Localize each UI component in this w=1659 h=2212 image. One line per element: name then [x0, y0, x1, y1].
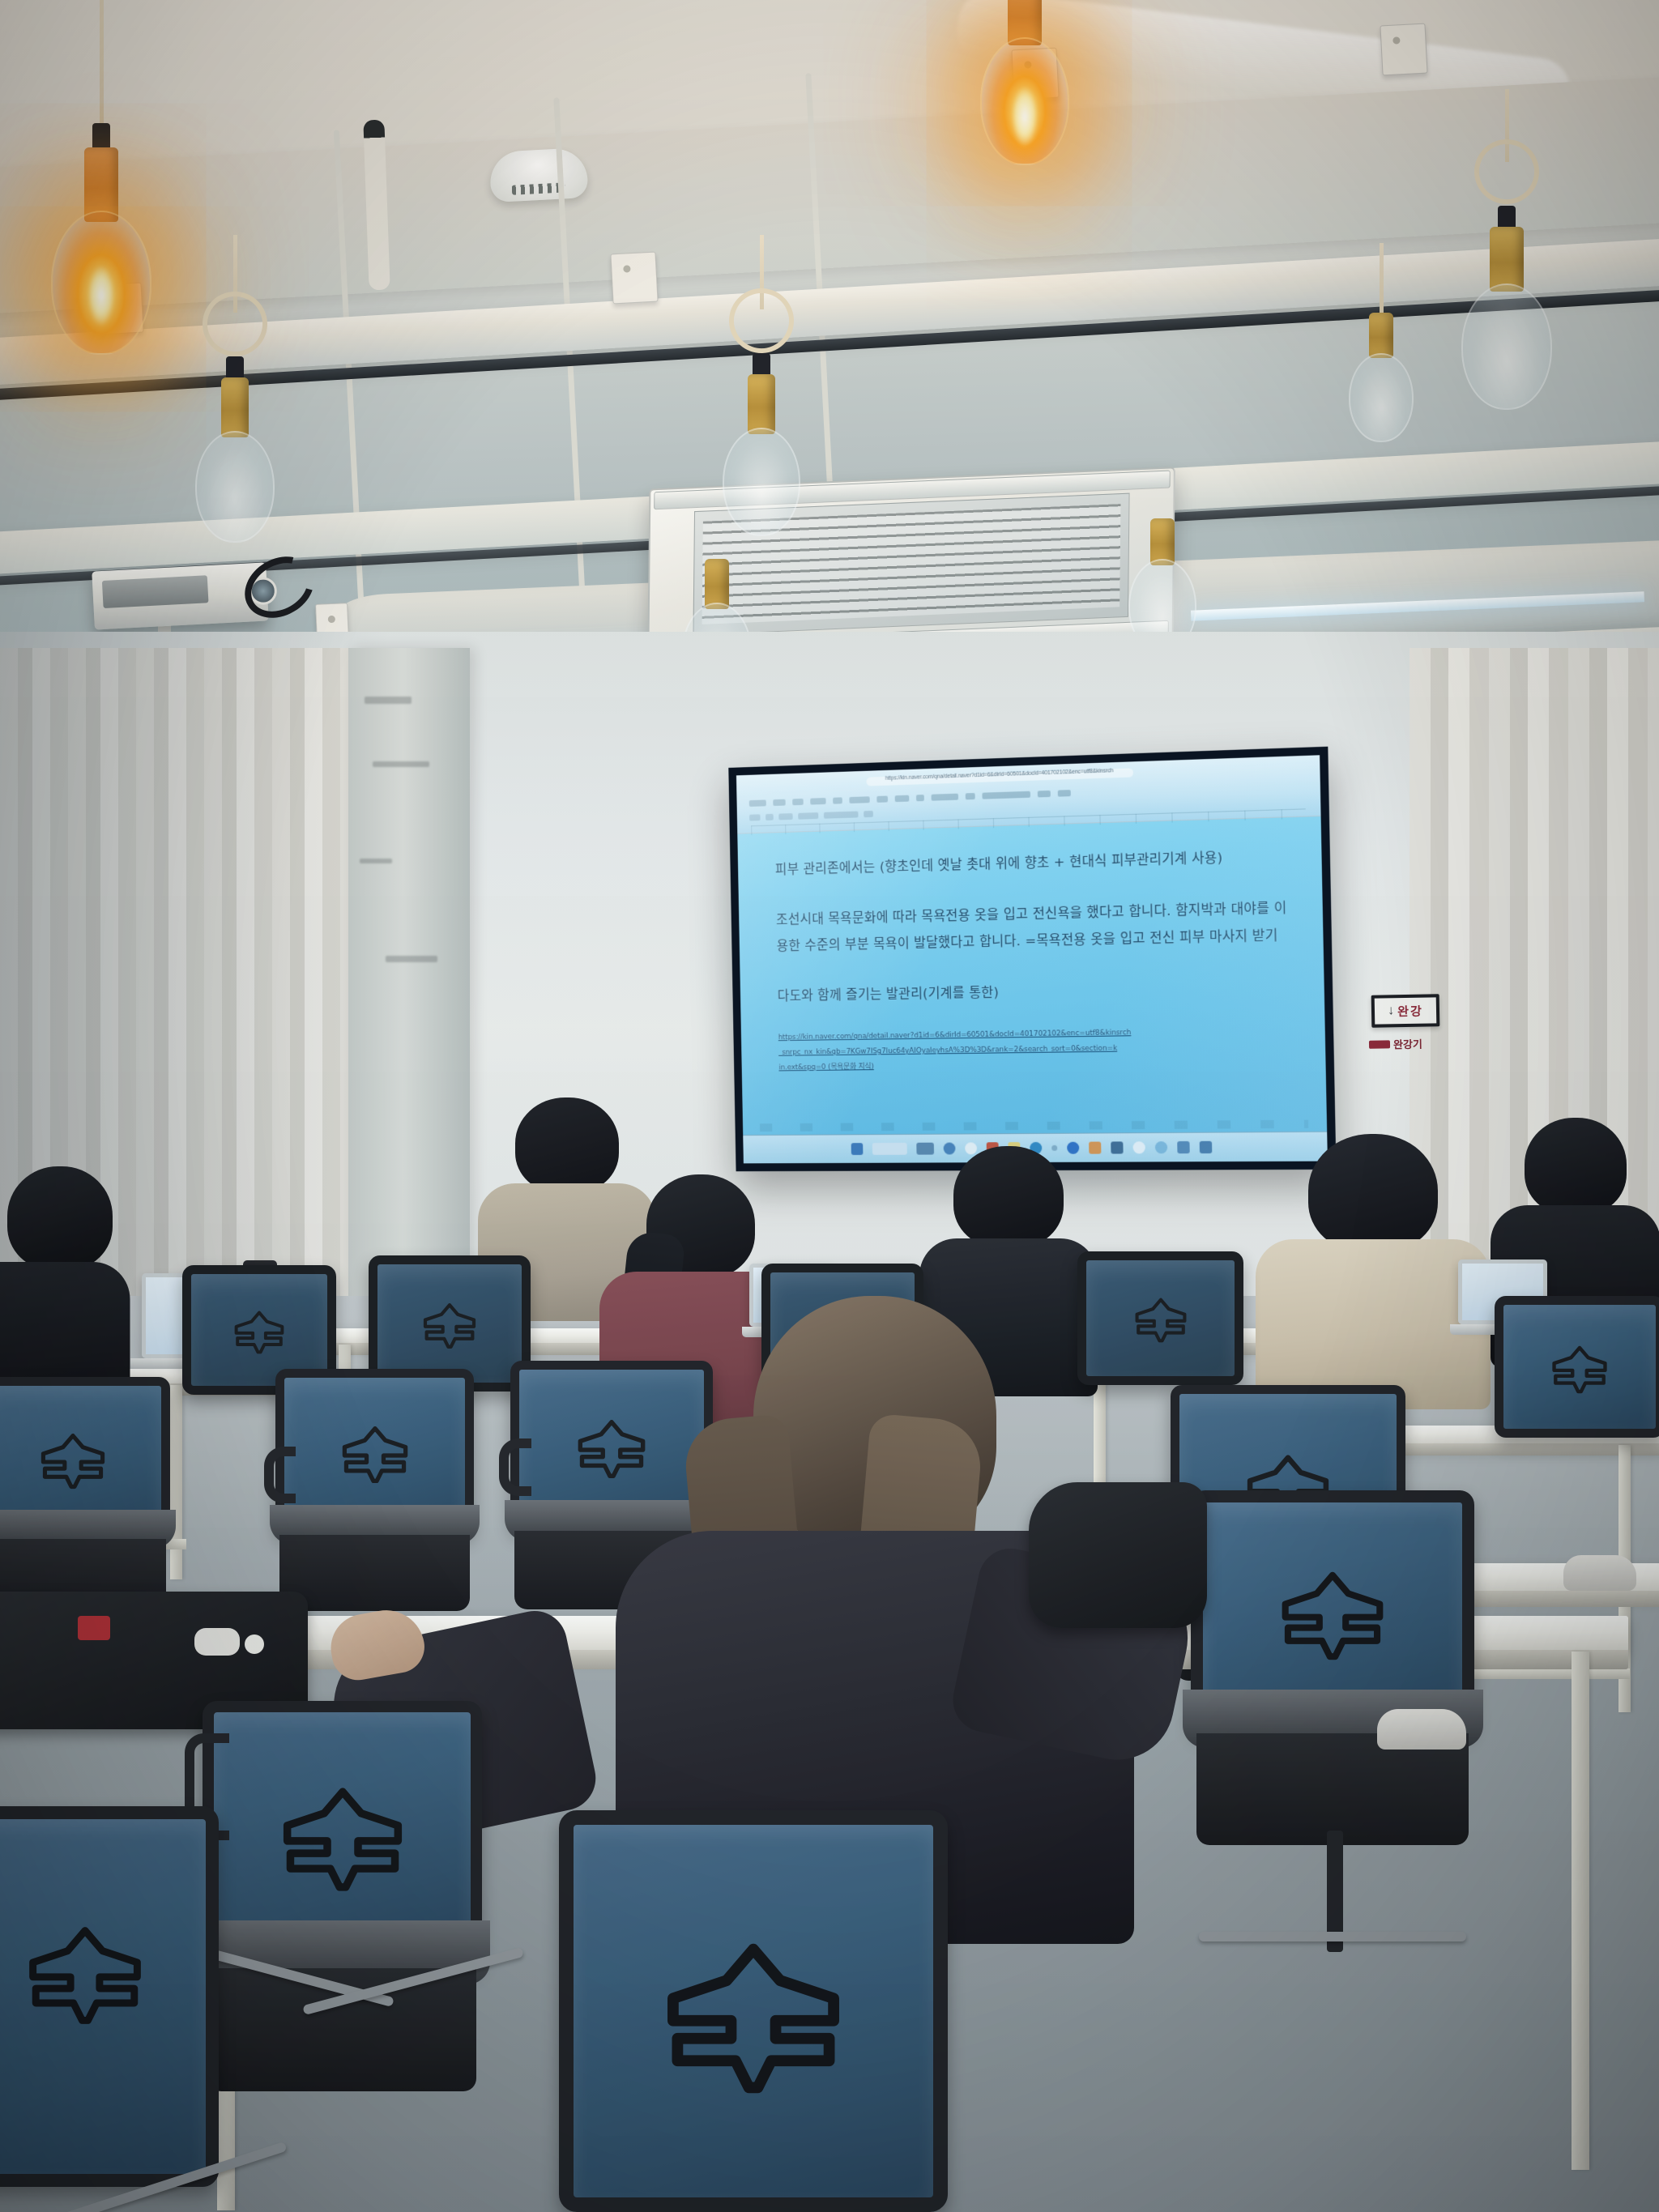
toolbar-chip[interactable]	[966, 792, 975, 799]
shoe	[1377, 1709, 1466, 1750]
head	[1525, 1118, 1627, 1215]
lumbar-support-icon	[1255, 1571, 1410, 1662]
lumbar-support-icon	[262, 1786, 422, 1894]
pendant-bulb-center-top	[968, 0, 1081, 186]
pendant-cord-coil	[1465, 130, 1549, 214]
circle-icon[interactable]	[1132, 1141, 1145, 1153]
photo-scene: ↓ 완강 완강기 https://kin.naver.com/qna/detai…	[0, 0, 1659, 2212]
lumbar-support-icon	[13, 1915, 158, 2035]
pendant-bulb-center	[713, 235, 810, 575]
track-bracket	[610, 252, 658, 305]
chair-mid-center-a[interactable]	[275, 1369, 474, 1535]
pillar-mark	[373, 761, 429, 767]
toolbar-chip[interactable]	[864, 810, 873, 816]
light-bulb-icon	[980, 37, 1069, 165]
toolbar-chip[interactable]	[833, 797, 842, 803]
white-earbuds-case[interactable]	[194, 1628, 240, 1656]
lumbar-support-icon	[22, 1432, 124, 1490]
toolbar-chip[interactable]	[766, 813, 774, 820]
search-icon[interactable]	[872, 1143, 906, 1155]
chair-backrest[interactable]	[1495, 1296, 1659, 1438]
toolbar-chip[interactable]	[932, 793, 959, 800]
pendant-socket	[705, 559, 729, 609]
pendant-cord	[1380, 243, 1384, 316]
head	[953, 1146, 1064, 1248]
chair-foreground-left[interactable]	[203, 1701, 482, 1968]
desk-leg	[170, 1385, 182, 1579]
light-bulb-icon	[51, 211, 151, 355]
toolbar-chip[interactable]	[792, 798, 804, 804]
filament	[1012, 87, 1038, 147]
chair-mid-left[interactable]	[0, 1377, 170, 1539]
lumbar-support-icon	[407, 1302, 491, 1349]
pendant-bulb-left	[49, 0, 154, 308]
document-paragraph-2: 조선시대 목욕문화에 따라 목욕전용 옷을 입고 전신욕을 했다고 합니다. 함…	[776, 894, 1290, 959]
lumbar-support-icon	[322, 1426, 427, 1485]
chair-foreground-center[interactable]	[559, 1810, 948, 2212]
toolbar-chip[interactable]	[824, 811, 859, 818]
status-strip	[760, 1120, 1308, 1132]
pendant-bulb-right	[1450, 89, 1563, 454]
pendant-socket-top	[92, 123, 110, 151]
toolbar-chip[interactable]	[895, 795, 910, 801]
filament	[88, 266, 114, 326]
document-link-line-3[interactable]: in.ext&spq=0 (목욕문화 지식)	[778, 1057, 1292, 1073]
head	[1308, 1134, 1438, 1252]
toolbar-chip[interactable]	[916, 795, 924, 801]
safety-sign: ↓ 완강	[1371, 994, 1440, 1027]
red-object[interactable]	[78, 1616, 110, 1640]
pendant-bulb-far-right	[1337, 243, 1426, 486]
toolbar-chip[interactable]	[810, 798, 825, 804]
toolbar-chip[interactable]	[778, 813, 792, 820]
toolbar-chip[interactable]	[982, 791, 1030, 799]
light-bulb-icon	[1349, 353, 1414, 442]
pillar-mark	[365, 697, 412, 704]
light-bulb-icon	[723, 428, 800, 536]
chair-foreground-far-left[interactable]	[0, 1806, 219, 2187]
document-body: 피부 관리존에서는 (향초인데 옛날 촛대 위에 향초 + 현대식 피부관리기계…	[737, 816, 1326, 1118]
smoke-detector-icon	[488, 147, 588, 202]
arrow-bar-icon	[1369, 1040, 1390, 1048]
app-icon[interactable]	[1199, 1141, 1212, 1153]
chair-far-right[interactable]	[1495, 1296, 1659, 1438]
down-arrow-icon: ↓	[1388, 1004, 1394, 1017]
pendant-cord-coil	[720, 279, 804, 363]
pendant-cord-coil	[194, 283, 277, 366]
desk-leg	[1572, 1652, 1589, 2170]
toolbar-chip[interactable]	[1038, 790, 1051, 797]
pendant-socket	[221, 377, 249, 437]
pillar-mark	[386, 956, 437, 962]
toolbar-chip[interactable]	[849, 796, 869, 803]
toolbar-chip[interactable]	[1058, 790, 1071, 797]
lumbar-support-icon	[1535, 1345, 1623, 1394]
chair-backrest[interactable]	[559, 1810, 948, 2212]
pendant-cord	[100, 0, 104, 130]
window-icon[interactable]	[851, 1143, 863, 1155]
projection-screen[interactable]: https://kin.naver.com/qna/detail.naver?d…	[728, 747, 1336, 1171]
pendant-socket	[1369, 313, 1393, 358]
toolbar-chip[interactable]	[749, 814, 760, 820]
concrete-pillar	[348, 648, 470, 1296]
light-bulb-icon	[195, 431, 275, 543]
toolbar-chip[interactable]	[798, 812, 818, 820]
document-link-line-2[interactable]: _snrpc_nx_kin&qb=7KGw7ISg7Iuc64yAIOyaley…	[778, 1042, 1292, 1059]
document-paragraph-3: 다도와 함께 즐기는 발관리(기계를 통한)	[777, 974, 1290, 1009]
pendant-bulb-left-mid	[186, 235, 284, 559]
head	[7, 1166, 113, 1270]
document-link-line-1[interactable]: https://kin.naver.com/qna/detail.naver?d…	[778, 1025, 1292, 1043]
lumbar-support-icon	[220, 1310, 298, 1354]
ceiling	[0, 0, 1659, 729]
safety-sub-label: 완강기	[1393, 1036, 1422, 1052]
safety-sub-sign: 완강기	[1369, 1035, 1447, 1052]
white-earbud[interactable]	[245, 1634, 264, 1654]
attendee-cream-sweater	[1256, 1134, 1491, 1401]
chair-base-leg	[1199, 1932, 1466, 1941]
light-bulb-icon	[1461, 283, 1552, 410]
lumbar-support-icon	[642, 1941, 864, 2097]
track-bracket	[1380, 23, 1427, 76]
toolbar-chip[interactable]	[773, 799, 785, 805]
chair-backrest[interactable]	[0, 1806, 219, 2187]
chair-right-foreground[interactable]	[1191, 1490, 1474, 1733]
doc-icon[interactable]	[1177, 1141, 1190, 1153]
pendant-socket	[748, 374, 775, 434]
dark-jacket-on-chair	[1029, 1482, 1207, 1628]
chair-armrest[interactable]	[499, 1438, 531, 1496]
document-paragraph-1: 피부 관리존에서는 (향초인데 옛날 촛대 위에 향초 + 현대식 피부관리기계…	[775, 842, 1289, 883]
toolbar-chip[interactable]	[876, 795, 888, 802]
projected-image: https://kin.naver.com/qna/detail.naver?d…	[736, 755, 1328, 1163]
chair-seat[interactable]	[279, 1535, 470, 1611]
note-icon[interactable]	[1111, 1141, 1123, 1153]
chair-seat[interactable]	[1196, 1733, 1469, 1845]
projector-body	[102, 575, 209, 608]
chair-armrest[interactable]	[264, 1447, 296, 1503]
safety-sign-label: 완강	[1397, 1002, 1423, 1020]
shoe	[1563, 1555, 1636, 1591]
sync-icon[interactable]	[1154, 1141, 1167, 1153]
pendant-socket	[1490, 227, 1524, 292]
pillar-mark	[360, 859, 392, 863]
ceiling-projector	[92, 562, 268, 629]
toolbar-chip[interactable]	[749, 799, 766, 807]
